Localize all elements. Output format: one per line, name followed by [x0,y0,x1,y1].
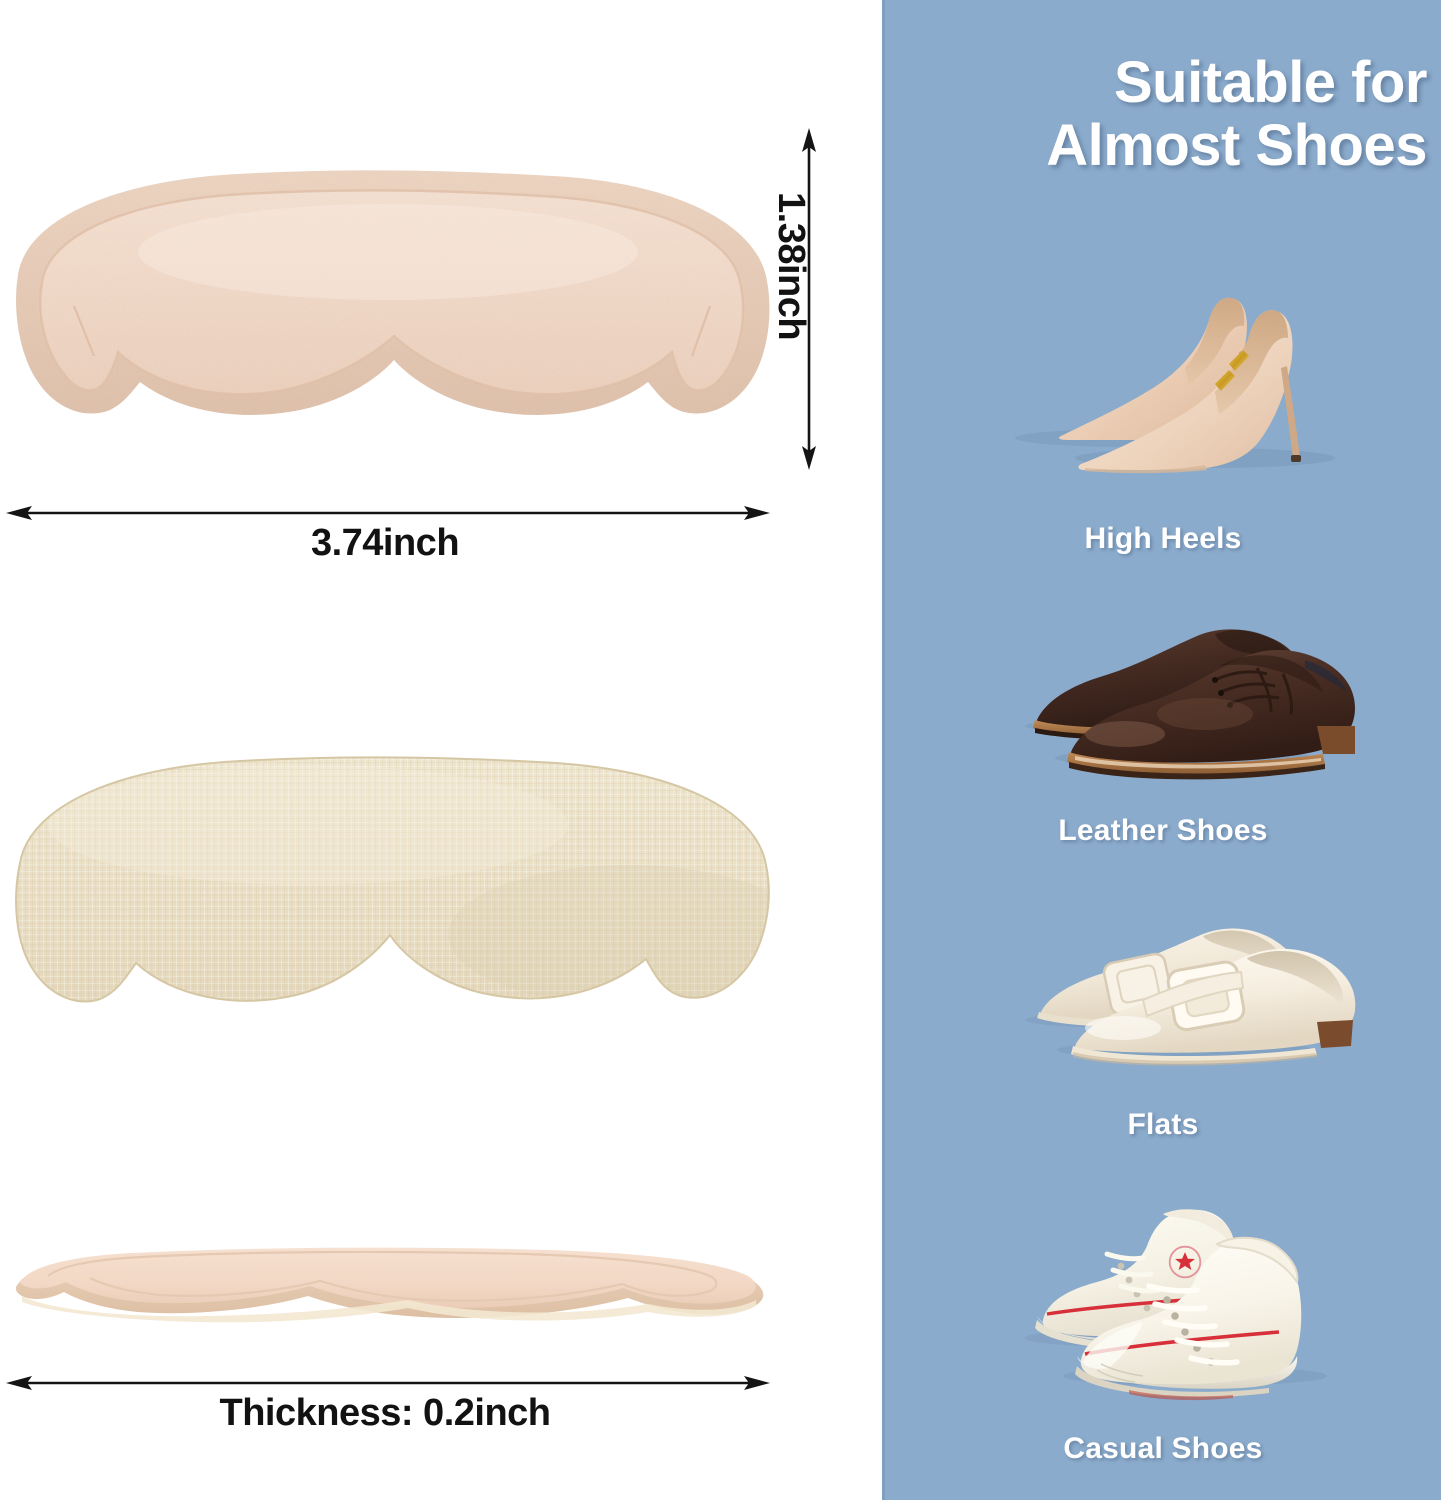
product-infographic: 1.38inch 3.74inch [0,0,1441,1500]
width-dimension-label: 3.74inch [0,522,770,565]
shoe-type-high-heels: High Heels [885,272,1441,556]
shoe-type-casual-shoes: Casual Shoes [885,1190,1441,1466]
product-side-profile-view [8,1240,778,1370]
product-back-adhesive-view [8,745,778,1045]
headline-line-1: Suitable for [885,52,1427,115]
shoe-type-label: Flats [885,1108,1441,1142]
leather-dress-shoes-icon [885,608,1441,798]
shoe-type-label: Casual Shoes [885,1432,1441,1466]
shoe-type-label: Leather Shoes [885,814,1441,848]
flat-shoes-icon [885,900,1441,1090]
shoe-type-leather-shoes: Leather Shoes [885,608,1441,848]
height-dimension-label: 1.38inch [769,192,812,340]
high-top-sneakers-icon [885,1190,1441,1418]
product-front-face-view [8,160,778,460]
headline-line-2: Almost Shoes [885,115,1427,178]
thickness-dimension-label: Thickness: 0.2inch [0,1392,770,1435]
shoe-type-flats: Flats [885,900,1441,1142]
high-heel-shoes-icon [885,272,1441,510]
panel-headline: Suitable for Almost Shoes [885,52,1441,177]
shoe-type-label: High Heels [885,522,1441,556]
product-views-panel: 1.38inch 3.74inch [0,0,882,1500]
suitable-shoes-panel: Suitable for Almost Shoes [885,0,1441,1500]
